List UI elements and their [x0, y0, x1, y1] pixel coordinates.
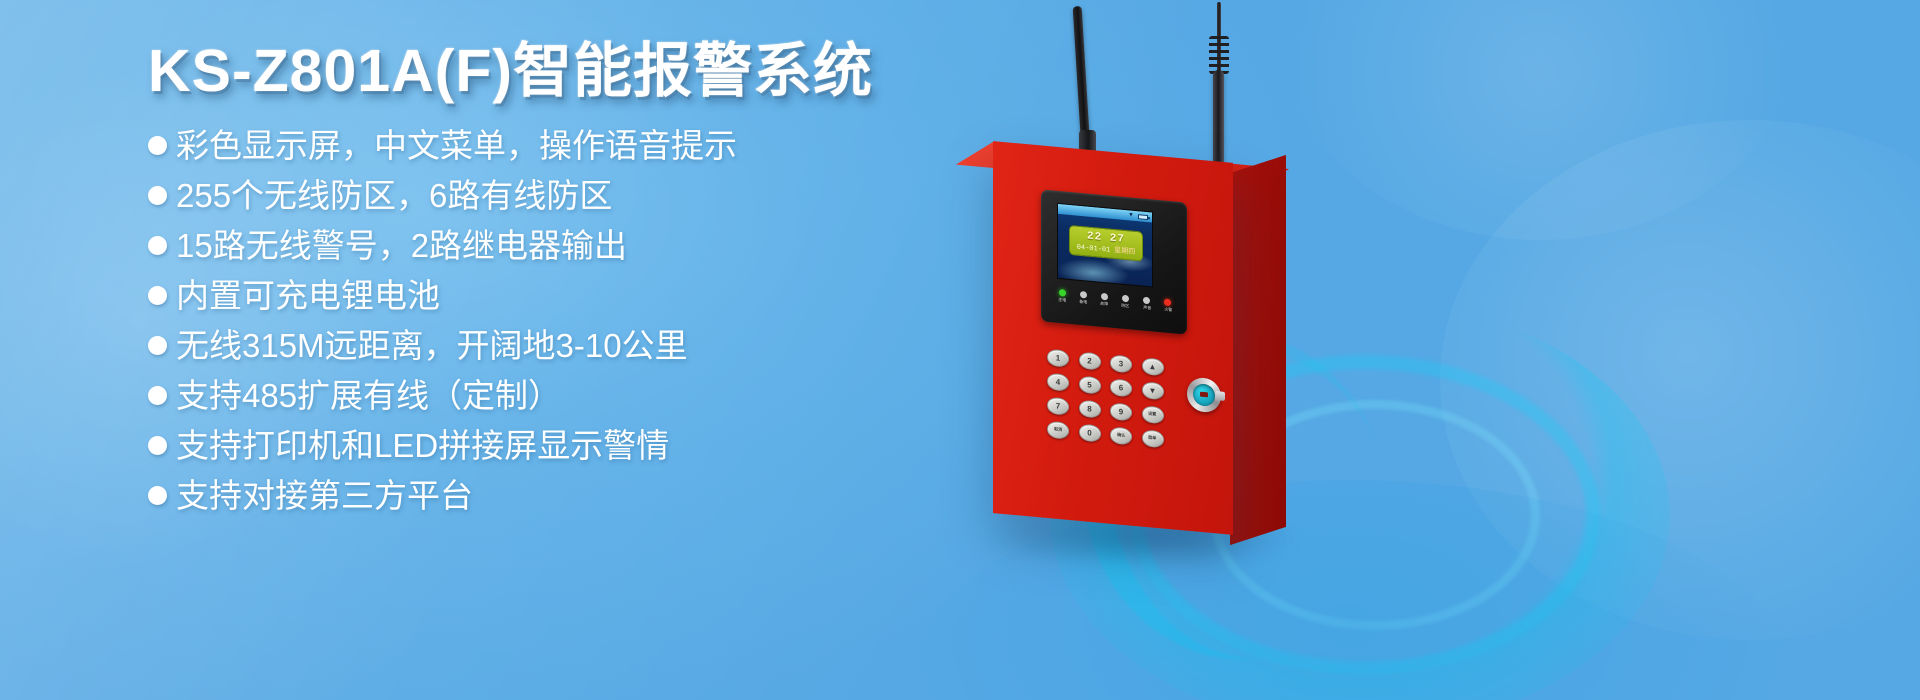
list-item: 支持485扩展有线（定制）	[148, 379, 908, 412]
led-dot-icon	[1080, 291, 1087, 299]
feature-list: 彩色显示屏，中文菜单，操作语音提示 255个无线防区，6路有线防区 15路无线警…	[148, 129, 908, 512]
key-4[interactable]: 4	[1047, 373, 1069, 392]
key-7[interactable]: 7	[1047, 397, 1069, 416]
lcd-weekday: 星期四	[1114, 247, 1135, 256]
lock-keyhole	[1200, 392, 1208, 398]
lock-tab	[1215, 391, 1225, 401]
key-label: ▼	[1149, 386, 1157, 395]
bullet-icon	[148, 486, 167, 505]
list-item: 15路无线警号，2路继电器输出	[148, 229, 908, 262]
control-faceplate: ▼ 22 27 04-01-01 星期四 主电	[1041, 189, 1187, 334]
list-item: 无线315M远距离，开阔地3-10公里	[148, 329, 908, 362]
led-label: 故障	[1100, 302, 1108, 307]
led-dot-icon	[1164, 299, 1171, 307]
led-dot-icon	[1143, 297, 1150, 305]
decorative-circle-right	[1440, 120, 1920, 640]
lcd-time: 22 27	[1087, 231, 1125, 245]
feature-label: 支持485扩展有线（定制）	[176, 379, 561, 412]
led-indicator: 主电	[1053, 288, 1071, 303]
key-up[interactable]: ▲	[1142, 357, 1164, 376]
key-6[interactable]: 6	[1110, 378, 1132, 397]
alarm-panel-device: ▼ 22 27 04-01-01 星期四 主电	[955, 0, 1475, 700]
key-label: 2	[1087, 357, 1091, 365]
key-label: 6	[1119, 384, 1123, 392]
list-item: 支持对接第三方平台	[148, 479, 908, 512]
key-1[interactable]: 1	[1047, 349, 1069, 368]
led-dot-icon	[1059, 289, 1066, 297]
key-label: 取消	[1054, 428, 1062, 433]
signal-icon: ▼	[1128, 212, 1134, 219]
list-item: 彩色显示屏，中文菜单，操作语音提示	[148, 129, 908, 162]
led-label: 声音	[1143, 306, 1151, 311]
battery-icon	[1138, 214, 1148, 220]
key-label: 8	[1087, 405, 1091, 413]
key-8[interactable]: 8	[1079, 399, 1101, 418]
key-label: 3	[1119, 360, 1123, 368]
cabinet-side-face	[1230, 155, 1286, 545]
lcd-screen: ▼ 22 27 04-01-01 星期四	[1057, 203, 1153, 288]
bullet-icon	[148, 136, 167, 155]
key-down[interactable]: ▼	[1142, 381, 1164, 400]
led-indicator: 声音	[1138, 296, 1156, 311]
key-label: 1	[1056, 354, 1060, 362]
feature-label: 255个无线防区，6路有线防区	[176, 179, 612, 212]
bullet-icon	[148, 236, 167, 255]
feature-label: 支持打印机和LED拼接屏显示警情	[176, 429, 669, 462]
led-indicator: 火警	[1159, 298, 1177, 313]
feature-label: 无线315M远距离，开阔地3-10公里	[176, 329, 688, 362]
list-item: 255个无线防区，6路有线防区	[148, 179, 908, 212]
key-label: 菜单	[1149, 436, 1157, 441]
led-indicator-row: 主电 备电 故障 防区 声音	[1053, 288, 1177, 312]
bullet-icon	[148, 286, 167, 305]
led-label: 备电	[1079, 300, 1087, 305]
key-label: 0	[1087, 429, 1091, 437]
led-dot-icon	[1101, 293, 1108, 301]
bullet-icon	[148, 386, 167, 405]
feature-label: 支持对接第三方平台	[176, 479, 473, 512]
key-label: 确认	[1117, 433, 1125, 438]
key-5[interactable]: 5	[1079, 375, 1101, 394]
key-label: ▲	[1149, 362, 1157, 371]
bullet-icon	[148, 186, 167, 205]
key-setup[interactable]: 设置	[1142, 405, 1164, 424]
banner-text-block: KS-Z801A(F)智能报警系统 彩色显示屏，中文菜单，操作语音提示 255个…	[148, 42, 908, 529]
led-indicator: 防区	[1117, 294, 1135, 309]
key-menu[interactable]: 菜单	[1142, 429, 1164, 448]
feature-label: 15路无线警号，2路继电器输出	[176, 229, 627, 262]
key-label: 5	[1087, 381, 1091, 389]
key-confirm[interactable]: 确认	[1110, 426, 1132, 445]
keypad[interactable]: 1 2 3 ▲ 4 5 6 ▼ 7 8 9 设置 取消 0 确认 菜单	[1047, 349, 1165, 449]
key-cancel[interactable]: 取消	[1047, 421, 1069, 440]
key-label: 9	[1119, 408, 1123, 416]
page-title: KS-Z801A(F)智能报警系统	[148, 42, 908, 101]
antenna-right-coil-icon	[1209, 36, 1229, 74]
led-indicator: 故障	[1095, 292, 1113, 307]
lcd-status-bar: ▼	[1058, 204, 1152, 223]
feature-label: 内置可充电锂电池	[176, 279, 440, 312]
key-0[interactable]: 0	[1079, 423, 1101, 442]
key-label: 设置	[1149, 412, 1157, 417]
bullet-icon	[148, 436, 167, 455]
list-item: 内置可充电锂电池	[148, 279, 908, 312]
key-label: 4	[1056, 378, 1060, 386]
feature-label: 彩色显示屏，中文菜单，操作语音提示	[176, 129, 737, 162]
lcd-date: 04-01-01	[1077, 244, 1111, 254]
led-label: 主电	[1058, 298, 1066, 303]
led-label: 火警	[1164, 308, 1172, 313]
led-indicator: 备电	[1074, 290, 1092, 305]
bullet-icon	[148, 336, 167, 355]
product-banner: KS-Z801A(F)智能报警系统 彩色显示屏，中文菜单，操作语音提示 255个…	[0, 0, 1920, 700]
list-item: 支持打印机和LED拼接屏显示警情	[148, 429, 908, 462]
key-label: 7	[1056, 402, 1060, 410]
lcd-date-line: 04-01-01 星期四	[1077, 243, 1136, 256]
key-lock-icon[interactable]	[1187, 376, 1221, 413]
led-dot-icon	[1122, 295, 1129, 303]
key-9[interactable]: 9	[1110, 402, 1132, 421]
led-label: 防区	[1122, 304, 1130, 309]
key-2[interactable]: 2	[1079, 351, 1101, 370]
key-3[interactable]: 3	[1110, 354, 1132, 373]
